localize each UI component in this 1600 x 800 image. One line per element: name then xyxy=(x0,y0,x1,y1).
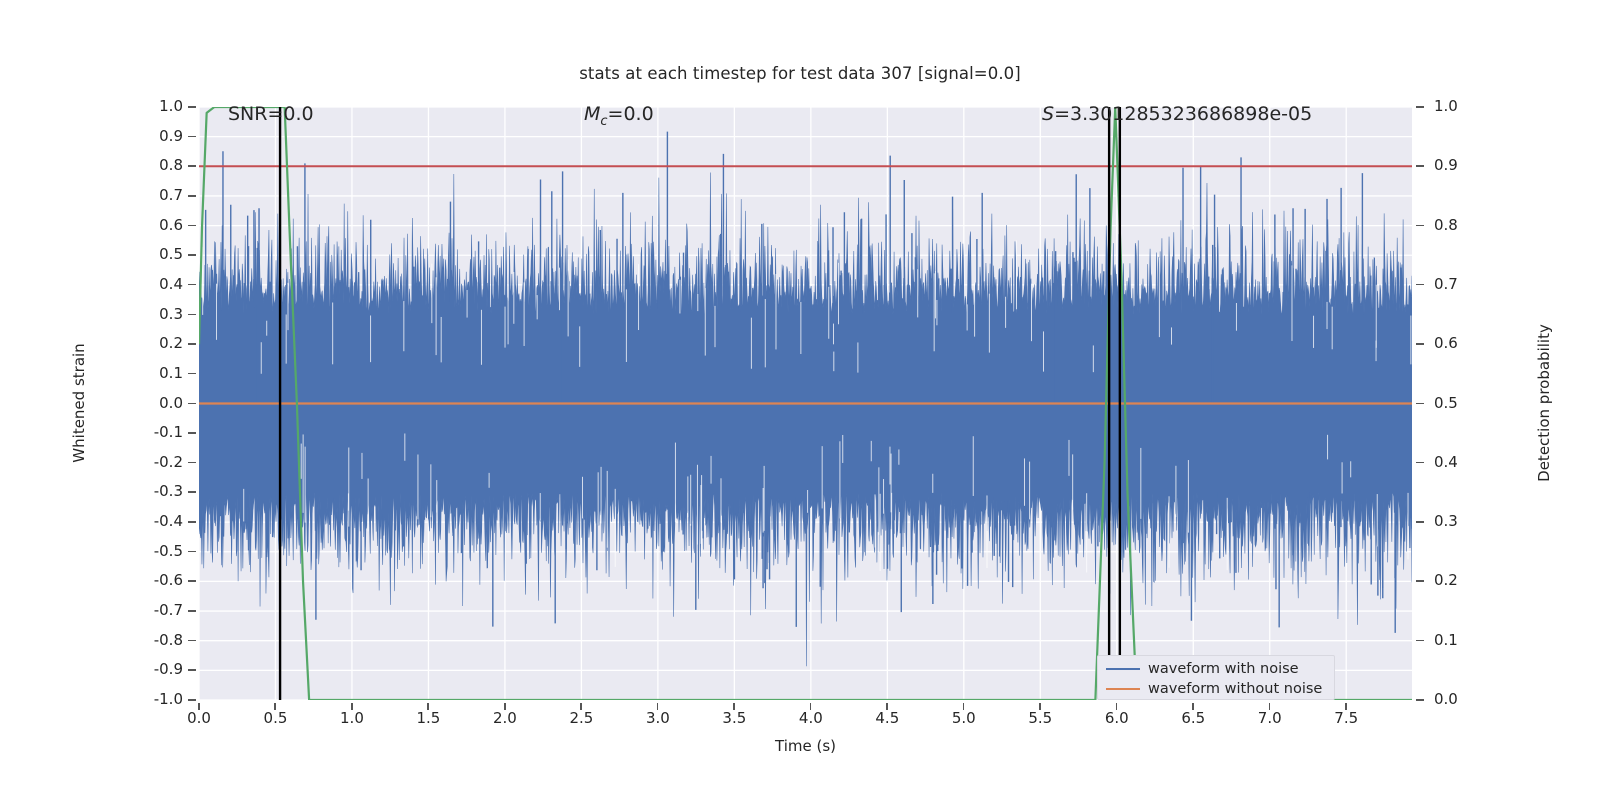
y-tick-mark-left xyxy=(188,580,196,582)
annotation-snr: SNR=0.0 xyxy=(228,103,314,125)
y-tick-label-left: 1.0 xyxy=(139,97,183,115)
y-tick-mark-right xyxy=(1416,521,1424,523)
legend-color-swatch xyxy=(1106,668,1140,670)
y-tick-mark-left xyxy=(188,343,196,345)
y-tick-label-right: 1.0 xyxy=(1434,97,1478,115)
y-tick-mark-right xyxy=(1416,343,1424,345)
figure-canvas: stats at each timestep for test data 307… xyxy=(0,0,1600,800)
x-tick-mark xyxy=(1269,703,1271,710)
y-tick-mark-left xyxy=(188,640,196,642)
x-tick-mark xyxy=(1345,703,1347,710)
y-tick-label-left: 0.3 xyxy=(139,305,183,323)
chart-title: stats at each timestep for test data 307… xyxy=(0,64,1600,83)
y-axis-label-left: Whitened strain xyxy=(70,283,88,523)
x-tick-label: 2.0 xyxy=(475,709,535,727)
plot-svg xyxy=(199,107,1412,700)
plot-area xyxy=(199,107,1412,700)
y-tick-label-left: -0.1 xyxy=(139,423,183,441)
x-tick-mark xyxy=(733,703,735,710)
legend[interactable]: waveform with noise waveform without noi… xyxy=(1097,655,1335,700)
legend-item-label: waveform with noise xyxy=(1148,661,1299,677)
x-tick-label: 3.5 xyxy=(704,709,764,727)
y-tick-label-left: -0.3 xyxy=(139,482,183,500)
y-tick-mark-right xyxy=(1416,165,1424,167)
y-tick-label-left: -0.9 xyxy=(139,660,183,678)
x-tick-mark xyxy=(1192,703,1194,710)
y-tick-mark-right xyxy=(1416,580,1424,582)
y-tick-label-left: -1.0 xyxy=(139,690,183,708)
y-tick-label-right: 0.1 xyxy=(1434,631,1478,649)
y-tick-label-right: 0.8 xyxy=(1434,216,1478,234)
y-tick-mark-right xyxy=(1416,106,1424,108)
x-tick-label: 2.5 xyxy=(551,709,611,727)
y-tick-label-left: 0.9 xyxy=(139,127,183,145)
y-tick-label-right: 0.7 xyxy=(1434,275,1478,293)
y-tick-label-left: 0.8 xyxy=(139,156,183,174)
x-tick-mark xyxy=(580,703,582,710)
x-tick-mark xyxy=(810,703,812,710)
legend-item: waveform without noise xyxy=(1098,679,1334,699)
x-axis-label: Time (s) xyxy=(199,737,1412,755)
y-tick-mark-left xyxy=(188,373,196,375)
x-tick-label: 0.5 xyxy=(245,709,305,727)
legend-item: waveform with noise xyxy=(1098,659,1334,679)
x-tick-label: 7.0 xyxy=(1240,709,1300,727)
y-tick-mark-left xyxy=(188,610,196,612)
x-tick-mark xyxy=(657,703,659,710)
y-tick-label-right: 0.9 xyxy=(1434,156,1478,174)
y-tick-mark-left xyxy=(188,195,196,197)
x-tick-label: 7.5 xyxy=(1316,709,1376,727)
y-tick-label-right: 0.3 xyxy=(1434,512,1478,530)
y-tick-label-left: -0.7 xyxy=(139,601,183,619)
annotation-statistic: S=3.301285323686898e-05 xyxy=(1042,103,1312,125)
legend-item-label: waveform without noise xyxy=(1148,681,1322,697)
y-tick-mark-left xyxy=(188,699,196,701)
x-tick-mark xyxy=(427,703,429,710)
y-tick-mark-left xyxy=(188,106,196,108)
x-tick-label: 6.5 xyxy=(1163,709,1223,727)
y-tick-label-left: 0.1 xyxy=(139,364,183,382)
y-tick-label-left: 0.0 xyxy=(139,394,183,412)
y-tick-mark-left xyxy=(188,491,196,493)
x-tick-label: 6.0 xyxy=(1087,709,1147,727)
y-tick-label-right: 0.4 xyxy=(1434,453,1478,471)
y-tick-label-left: 0.4 xyxy=(139,275,183,293)
x-tick-mark xyxy=(351,703,353,710)
y-tick-mark-left xyxy=(188,462,196,464)
y-tick-label-left: 0.7 xyxy=(139,186,183,204)
x-tick-label: 1.5 xyxy=(398,709,458,727)
y-tick-mark-left xyxy=(188,551,196,553)
y-tick-mark-left xyxy=(188,669,196,671)
y-tick-label-left: -0.6 xyxy=(139,571,183,589)
y-tick-mark-left xyxy=(188,254,196,256)
y-tick-mark-left xyxy=(188,314,196,316)
legend-color-swatch xyxy=(1106,688,1140,690)
y-tick-mark-right xyxy=(1416,640,1424,642)
x-tick-mark xyxy=(886,703,888,710)
waveform-with-noise-series xyxy=(199,132,1412,667)
x-tick-mark xyxy=(963,703,965,710)
y-tick-label-left: 0.5 xyxy=(139,245,183,263)
x-tick-label: 4.0 xyxy=(781,709,841,727)
y-tick-mark-left xyxy=(188,432,196,434)
y-tick-label-right: 0.6 xyxy=(1434,334,1478,352)
y-tick-mark-right xyxy=(1416,284,1424,286)
y-tick-mark-right xyxy=(1416,462,1424,464)
x-tick-mark xyxy=(1116,703,1118,710)
x-tick-label: 4.5 xyxy=(857,709,917,727)
y-axis-label-right: Detection probability xyxy=(1535,283,1553,523)
y-tick-label-right: 0.2 xyxy=(1434,571,1478,589)
y-tick-mark-left xyxy=(188,136,196,138)
annotation-chirp-mass: Mc=0.0 xyxy=(584,103,654,129)
y-tick-mark-right xyxy=(1416,225,1424,227)
y-tick-mark-left xyxy=(188,403,196,405)
y-tick-mark-left xyxy=(188,284,196,286)
y-tick-label-right: 0.5 xyxy=(1434,394,1478,412)
y-tick-label-left: -0.2 xyxy=(139,453,183,471)
y-tick-label-left: -0.8 xyxy=(139,631,183,649)
y-tick-mark-left xyxy=(188,165,196,167)
x-tick-label: 5.5 xyxy=(1010,709,1070,727)
y-tick-label-left: 0.2 xyxy=(139,334,183,352)
x-tick-label: 0.0 xyxy=(169,709,229,727)
x-tick-label: 3.0 xyxy=(628,709,688,727)
y-tick-mark-left xyxy=(188,521,196,523)
x-tick-mark xyxy=(198,703,200,710)
y-tick-label-left: 0.6 xyxy=(139,216,183,234)
x-tick-mark xyxy=(274,703,276,710)
y-tick-label-left: -0.5 xyxy=(139,542,183,560)
y-tick-label-right: 0.0 xyxy=(1434,690,1478,708)
x-tick-label: 1.0 xyxy=(322,709,382,727)
y-tick-label-left: -0.4 xyxy=(139,512,183,530)
y-tick-mark-right xyxy=(1416,699,1424,701)
y-tick-mark-left xyxy=(188,225,196,227)
y-tick-mark-right xyxy=(1416,403,1424,405)
x-tick-mark xyxy=(504,703,506,710)
x-tick-mark xyxy=(1039,703,1041,710)
x-tick-label: 5.0 xyxy=(934,709,994,727)
